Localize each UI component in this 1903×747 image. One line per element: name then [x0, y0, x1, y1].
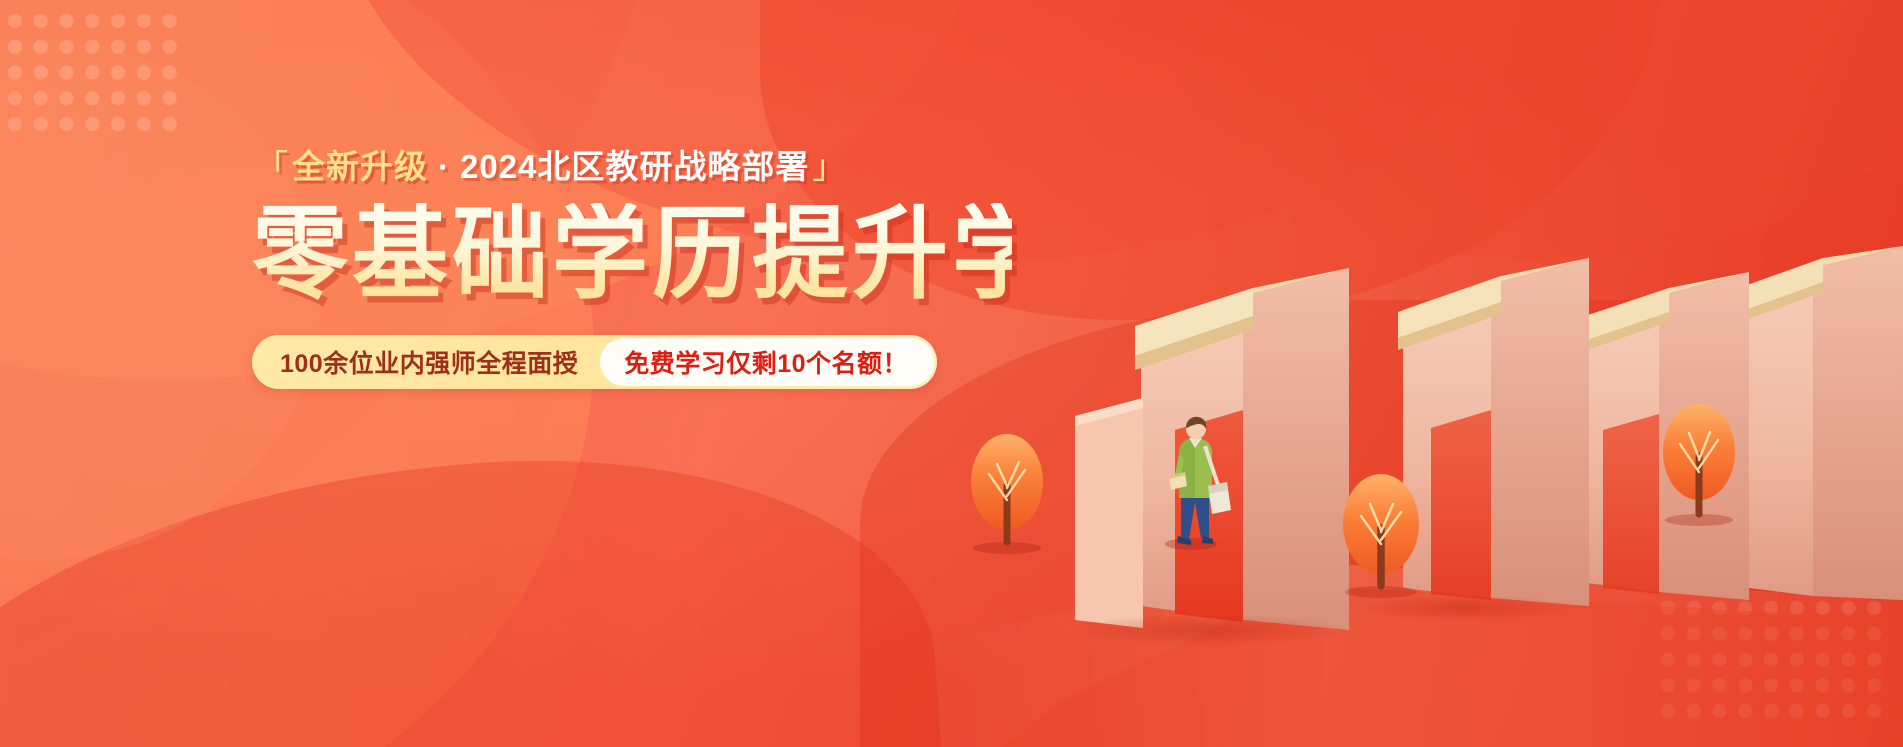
promo-banner: 「全新升级·2024北区教研战略部署」 零基础学历提升学霸班 100余位业内强师…	[0, 0, 1903, 747]
illustration-book-archway	[943, 0, 1903, 747]
eyebrow-bracket-open: 「	[252, 148, 292, 185]
eyebrow-bracket-close: 」	[809, 148, 849, 185]
dot-grid-bottom-right	[1655, 595, 1887, 725]
background-shape-9	[1180, 0, 1903, 260]
background-shape-6	[0, 432, 958, 747]
banner-eyebrow: 「全新升级·2024北区教研战略部署」	[252, 150, 1012, 183]
eyebrow-separator: ·	[428, 148, 460, 185]
banner-highlight-pill: 100余位业内强师全程面授 免费学习仅剩10个名额！	[252, 335, 937, 389]
banner-copy: 「全新升级·2024北区教研战略部署」 零基础学历提升学霸班 100余位业内强师…	[252, 150, 1012, 389]
background-shape-7	[860, 300, 1903, 747]
pill-seats-remaining-label: 免费学习仅剩10个名额！	[600, 338, 934, 386]
eyebrow-rest: 2024北区教研战略部署	[460, 148, 809, 185]
banner-title: 零基础学历提升学霸班	[252, 203, 1012, 307]
eyebrow-highlight: 全新升级	[292, 148, 428, 185]
pill-teachers-label: 100余位业内强师全程面授	[280, 344, 600, 380]
dot-grid-top-left	[2, 8, 182, 136]
